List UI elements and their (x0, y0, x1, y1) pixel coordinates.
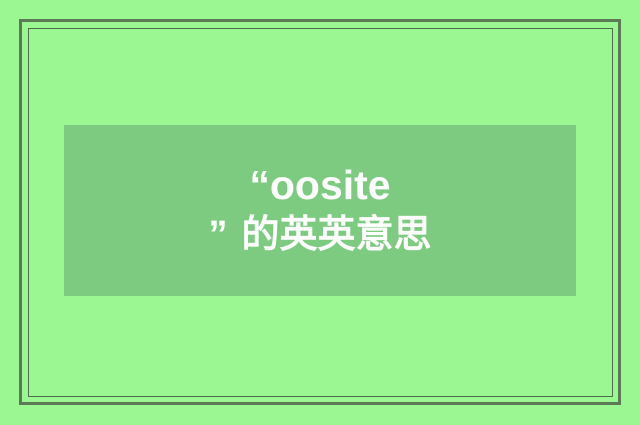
page-canvas: “oosite ”的英英意思 (0, 0, 640, 425)
opening-quote-mark: “ (249, 162, 270, 208)
page-title: “oosite ”的英英意思 (208, 163, 431, 259)
title-line-one: “oosite (208, 163, 431, 209)
title-line-two: ”的英英意思 (208, 213, 431, 259)
title-phrase: 的英英意思 (241, 214, 431, 256)
title-panel: “oosite ”的英英意思 (64, 125, 576, 296)
title-keyword: oosite (270, 162, 391, 208)
closing-quote-mark: ” (208, 214, 227, 256)
